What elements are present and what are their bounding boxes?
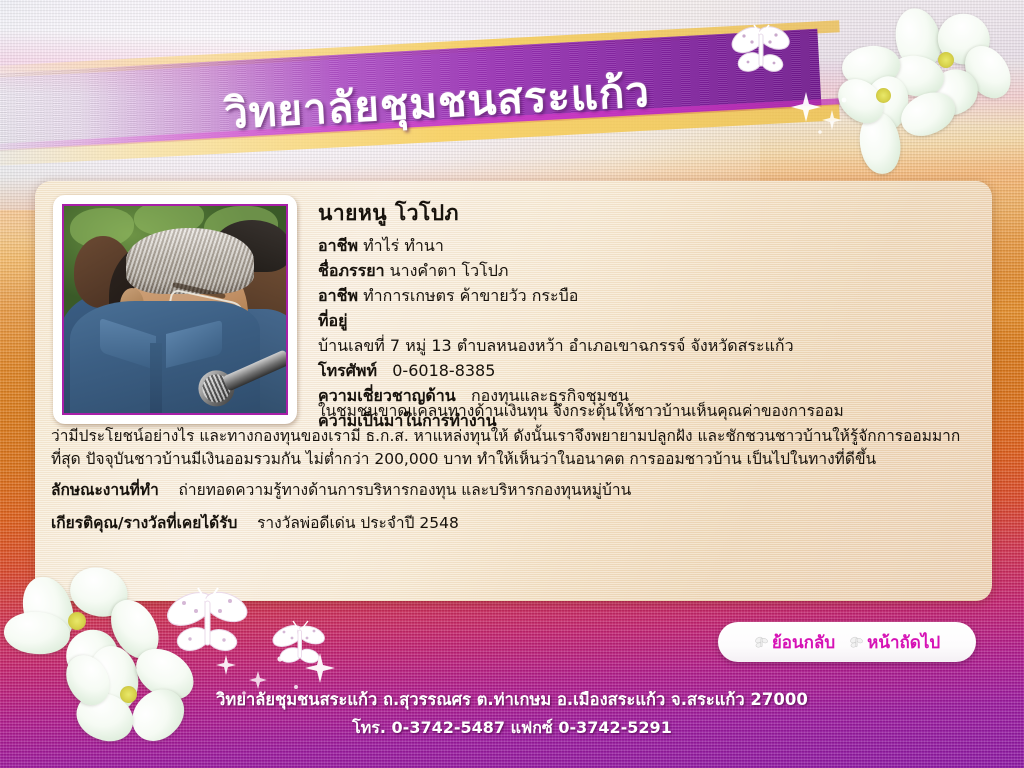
work-label: ลักษณะงานที่ทำ xyxy=(51,481,159,499)
content-panel: นายหนู โวโปภ อาชีพ ทำไร่ ทำนา ชื่อภรรยา … xyxy=(35,181,992,601)
award-row: เกียรติคุณ/รางวัลที่เคยได้รับ รางวัลพ่อด… xyxy=(51,512,976,535)
info-row-spouse-name: ชื่อภรรยา นางคำตา โวโปภ xyxy=(318,259,968,282)
info-label: ที่อยู่ xyxy=(318,311,348,330)
info-row-occupation-1: อาชีพ ทำไร่ ทำนา xyxy=(318,234,968,257)
work-value: ถ่ายทอดความรู้ทางด้านการบริหารกองทุน และ… xyxy=(179,481,632,499)
info-row-address-label: ที่อยู่ xyxy=(318,309,968,332)
info-value: บ้านเลขที่ 7 หมู่ 13 ตำบลหนองหว้า อำเภอเ… xyxy=(318,336,794,355)
story-section: ในชุมชนขาดแคลนทางด้านเงินทุน จึงกระตุ้นใ… xyxy=(51,423,976,535)
info-value: นางคำตา โวโปภ xyxy=(390,261,509,280)
profile-photo-frame xyxy=(53,195,297,424)
butterfly-icon xyxy=(849,635,864,650)
butterfly-icon xyxy=(726,22,796,80)
info-label: ชื่อภรรยา xyxy=(318,261,385,280)
info-label: อาชีพ xyxy=(318,286,358,305)
info-label: โทรศัพท์ xyxy=(318,361,377,380)
info-label: อาชีพ xyxy=(318,236,358,255)
story-body: ว่ามีประโยชน์อย่างไร และทางกองทุนของเราม… xyxy=(51,425,976,470)
award-value: รางวัลพ่อดีเด่น ประจำปี 2548 xyxy=(257,514,459,532)
award-label: เกียรติคุณ/รางวัลที่เคยได้รับ xyxy=(51,514,237,532)
info-value: ทำการเกษตร ค้าขายวัว กระบือ xyxy=(363,286,578,305)
sparkle-icon xyxy=(790,88,850,140)
profile-name: นายหนู โวโปภ xyxy=(318,197,968,230)
footer: วิทยาลัยชุมชนสระแก้ว ถ.สุวรรณศร ต.ท่าเกษ… xyxy=(0,686,1024,741)
navigation-bar: ย้อนกลับ หน้าถัดไป xyxy=(718,622,976,662)
profile-photo xyxy=(62,204,288,415)
info-value: ทำไร่ ทำนา xyxy=(363,236,444,255)
next-button-label: หน้าถัดไป xyxy=(867,629,940,656)
footer-contact: โทร. 0-3742-5487 แฟกซ์ 0-3742-5291 xyxy=(0,714,1024,741)
back-button[interactable]: ย้อนกลับ xyxy=(750,627,839,658)
info-row-address-value: บ้านเลขที่ 7 หมู่ 13 ตำบลหนองหว้า อำเภอเ… xyxy=(318,334,968,357)
story-first-line: ในชุมชนขาดแคลนทางด้านเงินทุน จึงกระตุ้นใ… xyxy=(318,400,990,423)
back-button-label: ย้อนกลับ xyxy=(772,629,835,656)
profile-info: นายหนู โวโปภ อาชีพ ทำไร่ ทำนา ชื่อภรรยา … xyxy=(318,197,968,434)
info-value: 0-6018-8385 xyxy=(392,361,495,380)
butterfly-icon xyxy=(754,635,769,650)
info-row-occupation-2: อาชีพ ทำการเกษตร ค้าขายวัว กระบือ xyxy=(318,284,968,307)
next-button[interactable]: หน้าถัดไป xyxy=(845,627,944,658)
work-row: ลักษณะงานที่ทำ ถ่ายทอดความรู้ทางด้านการบ… xyxy=(51,479,976,502)
footer-address: วิทยาลัยชุมชนสระแก้ว ถ.สุวรรณศร ต.ท่าเกษ… xyxy=(0,686,1024,714)
flower-decoration-top-right xyxy=(842,8,1022,178)
slide-root: วิทยาลัยชุมชนสระแก้ว xyxy=(0,0,1024,768)
info-row-phone: โทรศัพท์ 0-6018-8385 xyxy=(318,359,968,382)
